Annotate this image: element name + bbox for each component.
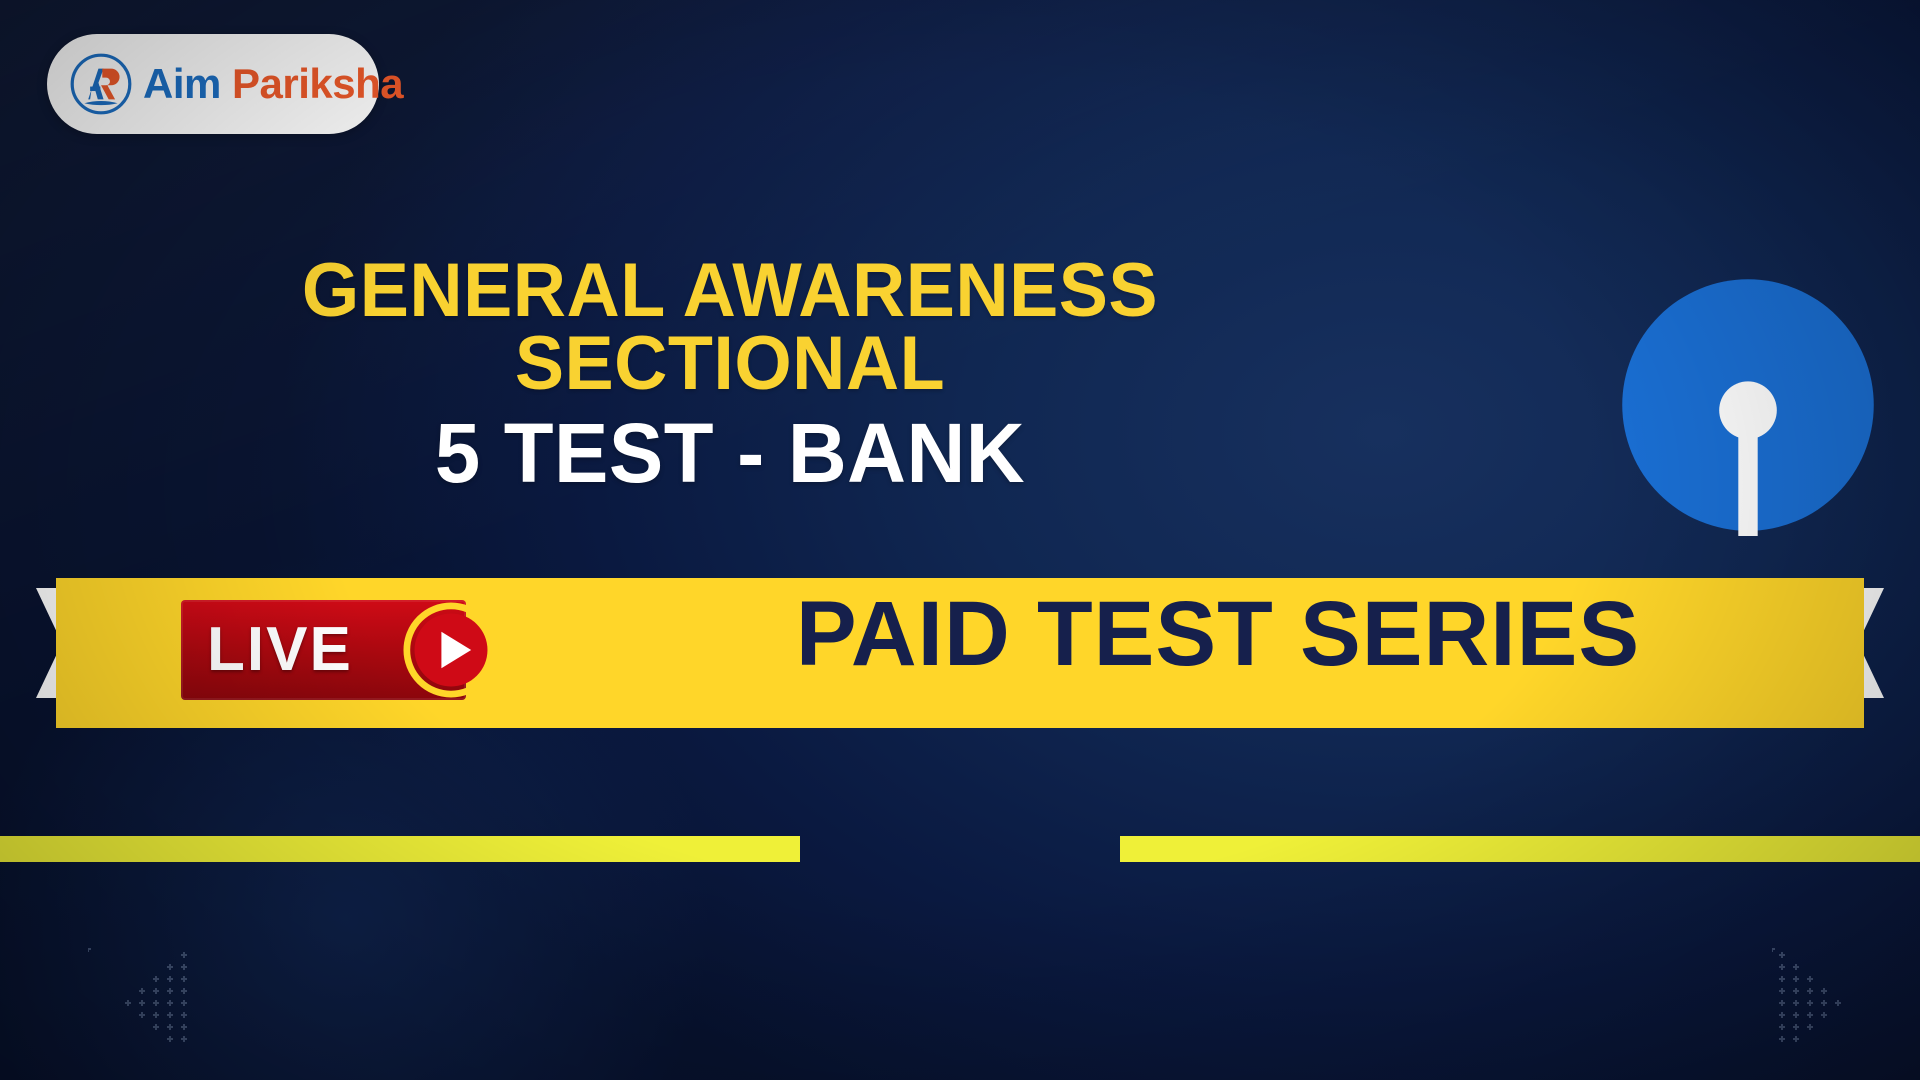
promo-banner: Aim Pariksha GENERAL AWARENESS SECTIONAL… [0,0,1920,1080]
live-badge[interactable]: LIVE [181,600,536,700]
dot-triangle-right-icon [1772,948,1882,1048]
yellow-bar-left [0,836,800,862]
brand-name-aim: Aim [143,60,221,107]
brand-name-pariksha: Pariksha [232,60,403,107]
background-vignette [0,0,1920,1080]
brand-name: Aim Pariksha [143,60,403,108]
brand-logo-pill[interactable]: Aim Pariksha [47,34,379,134]
play-triangle-icon[interactable] [403,602,499,698]
headline-line-1: GENERAL AWARENESS [22,255,1438,328]
ribbon-title: PAID TEST SERIES [634,588,1802,680]
yellow-bar-right [1120,836,1920,862]
background-sheen [0,0,1920,1080]
headline-line-2: SECTIONAL [22,328,1438,401]
headline-line-3: 5 TEST - BANK [22,411,1438,495]
headline-block: GENERAL AWARENESS SECTIONAL 5 TEST - BAN… [0,255,1460,495]
live-label: LIVE [207,619,353,681]
aim-pariksha-monogram-icon [69,52,133,116]
dot-triangle-left-icon [88,948,198,1048]
sbi-keyhole-icon [1617,274,1879,536]
